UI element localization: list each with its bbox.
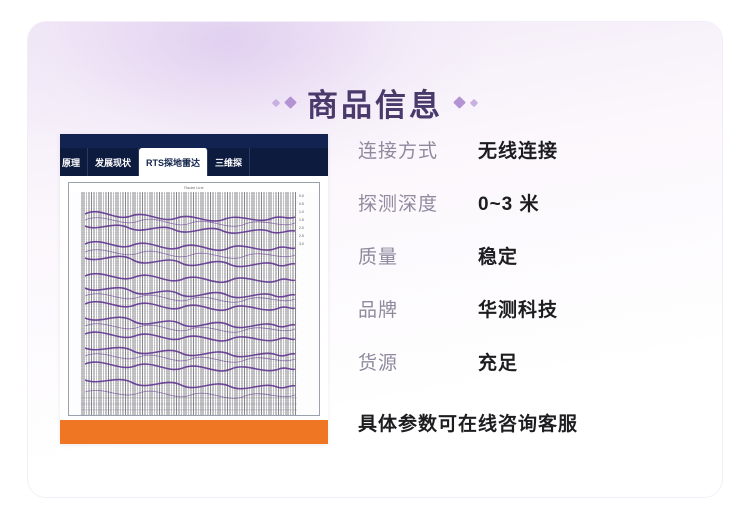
radargram-traces (81, 192, 297, 415)
spec-row: 探测深度 0~3 米 (358, 189, 722, 242)
diamond-small-icon (470, 98, 478, 106)
screenshot-tab-bar: 原理 发展现状 RTS探地雷达 三维探 (60, 148, 250, 176)
card-content: 原理 发展现状 RTS探地雷达 三维探 (28, 134, 722, 474)
page-root: 商品信息 原理 发展现状 (0, 0, 750, 519)
spec-row: 货源 充足 (358, 348, 722, 401)
tab-label: 原理 (62, 156, 80, 169)
tab-label: RTS探地雷达 (146, 156, 200, 169)
spec-row: 品牌 华测科技 (358, 295, 722, 348)
card-header: 商品信息 (28, 80, 722, 125)
spec-value: 无线连接 (478, 136, 558, 163)
spec-value: 稳定 (478, 242, 518, 269)
depth-tick: 3.0 (297, 240, 319, 248)
diamond-ornament-left (273, 98, 295, 107)
tab-rts-gpr[interactable]: RTS探地雷达 (139, 148, 208, 176)
diamond-ornament-right (455, 98, 477, 107)
depth-tick: 2.5 (297, 232, 319, 240)
spec-row: 质量 稳定 (358, 242, 722, 295)
spec-label: 连接方式 (358, 136, 478, 163)
radargram-right-axis: 0.0 0.5 1.0 1.5 2.0 2.5 3.0 (296, 192, 319, 415)
tab-principle[interactable]: 原理 (60, 148, 88, 176)
depth-tick: 0.5 (297, 200, 319, 208)
spec-value: 0~3 米 (478, 189, 540, 216)
spec-table: 连接方式 无线连接 探测深度 0~3 米 质量 稳定 品牌 华测科技 货源 (328, 134, 722, 474)
spec-value: 充足 (478, 348, 518, 375)
diamond-small-icon (272, 98, 280, 106)
radar-software-screenshot: 原理 发展现状 RTS探地雷达 三维探 (60, 134, 328, 444)
spec-label: 货源 (358, 348, 478, 375)
depth-tick: 0.0 (297, 192, 319, 200)
product-info-card: 商品信息 原理 发展现状 (28, 22, 722, 497)
spec-label: 质量 (358, 242, 478, 269)
screenshot-bottom-bar (60, 420, 328, 444)
tab-label: 发展现状 (95, 156, 131, 169)
radargram-reflection-overlay (81, 192, 297, 415)
depth-tick: 1.0 (297, 208, 319, 216)
product-image-column: 原理 发展现状 RTS探地雷达 三维探 (28, 134, 328, 474)
page-title: 商品信息 (307, 80, 443, 125)
diamond-large-icon (284, 96, 297, 109)
spec-label: 品牌 (358, 295, 478, 322)
depth-tick: 1.5 (297, 216, 319, 224)
tab-3d-detection[interactable]: 三维探 (208, 148, 250, 176)
screenshot-body: Radar Line 0.0 0.5 1.0 1.5 2.0 2.5 3.0 (60, 176, 328, 420)
radargram-panel: Radar Line 0.0 0.5 1.0 1.5 2.0 2.5 3.0 (68, 182, 320, 416)
spec-value: 华测科技 (478, 295, 558, 322)
spec-note: 具体参数可在线咨询客服 (358, 409, 722, 436)
tab-development-status[interactable]: 发展现状 (88, 148, 139, 176)
depth-tick: 2.0 (297, 224, 319, 232)
topbar-strip (60, 134, 328, 148)
diamond-large-icon (453, 96, 466, 109)
spec-label: 探测深度 (358, 189, 478, 216)
tab-label: 三维探 (215, 156, 242, 169)
screenshot-topbar: 原理 发展现状 RTS探地雷达 三维探 (60, 134, 328, 176)
spec-row: 连接方式 无线连接 (358, 136, 722, 189)
